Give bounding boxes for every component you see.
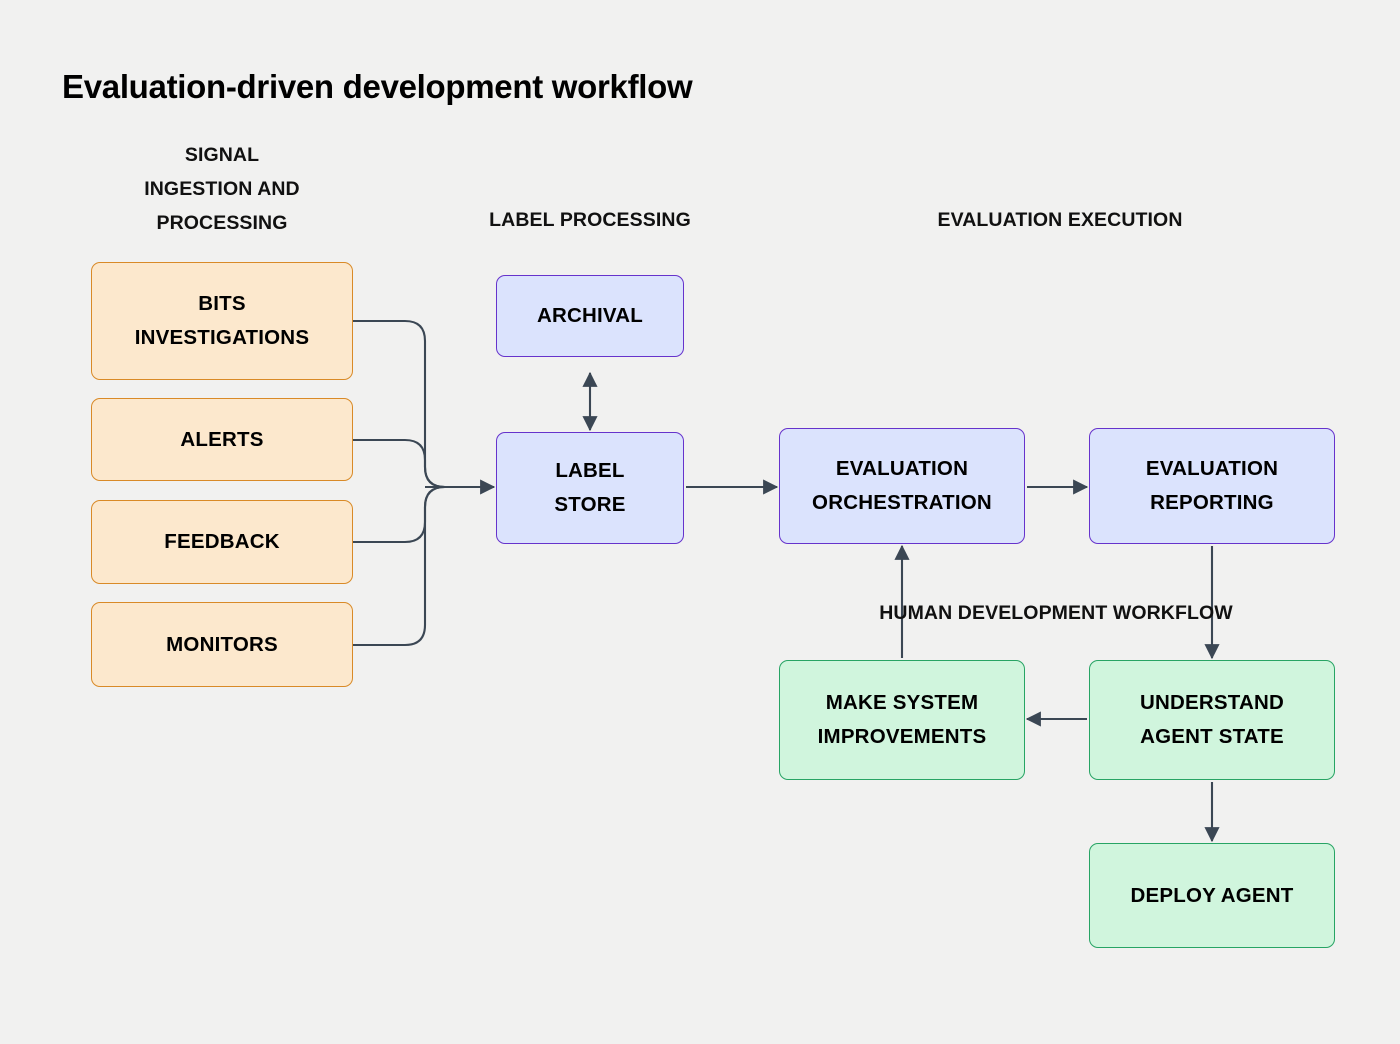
- node-bits-investigations[interactable]: BITS INVESTIGATIONS: [91, 262, 353, 380]
- group-label-signal-ingestion: SIGNAL INGESTION AND PROCESSING: [85, 138, 359, 240]
- node-feedback[interactable]: FEEDBACK: [91, 500, 353, 584]
- flow-label-human-development-workflow: HUMAN DEVELOPMENT WORKFLOW: [826, 602, 1286, 625]
- node-evaluation-orchestration[interactable]: EVALUATION ORCHESTRATION: [779, 428, 1025, 544]
- edge-monitors-to-label-store: [353, 487, 445, 645]
- edge-alerts-to-label-store: [353, 440, 445, 487]
- node-alerts[interactable]: ALERTS: [91, 398, 353, 481]
- group-label-label-processing: LABEL PROCESSING: [452, 203, 728, 237]
- page-title: Evaluation-driven development workflow: [62, 68, 692, 106]
- node-make-system-improvements[interactable]: MAKE SYSTEM IMPROVEMENTS: [779, 660, 1025, 780]
- node-archival[interactable]: ARCHIVAL: [496, 275, 684, 357]
- group-label-evaluation-execution: EVALUATION EXECUTION: [862, 203, 1258, 237]
- node-label-store[interactable]: LABEL STORE: [496, 432, 684, 544]
- node-evaluation-reporting[interactable]: EVALUATION REPORTING: [1089, 428, 1335, 544]
- diagram-canvas: Evaluation-driven development workflow S…: [0, 0, 1400, 1044]
- edge-feedback-to-label-store: [353, 487, 445, 542]
- node-deploy-agent[interactable]: DEPLOY AGENT: [1089, 843, 1335, 948]
- edge-bits-to-label-store: [353, 321, 445, 487]
- node-understand-agent-state[interactable]: UNDERSTAND AGENT STATE: [1089, 660, 1335, 780]
- node-monitors[interactable]: MONITORS: [91, 602, 353, 687]
